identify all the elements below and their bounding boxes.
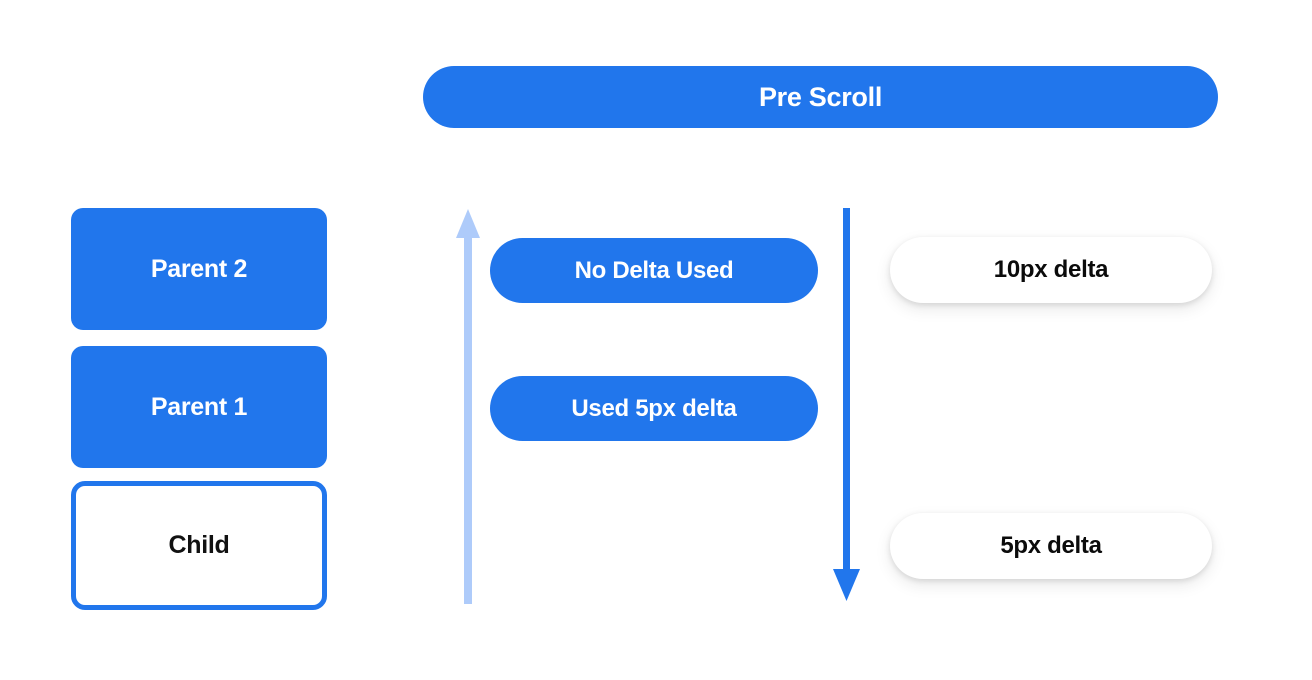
pill-5px-delta-label: 5px delta — [1000, 532, 1101, 560]
node-child: Child — [71, 481, 327, 610]
node-parent-1: Parent 1 — [71, 346, 327, 468]
node-child-label: Child — [169, 531, 230, 560]
pill-10px-delta-label: 10px delta — [994, 256, 1108, 284]
pill-no-delta-used-label: No Delta Used — [575, 257, 734, 285]
pre-scroll-header-label: Pre Scroll — [759, 82, 882, 113]
pill-used-5px-delta: Used 5px delta — [490, 376, 818, 441]
pre-scroll-header-pill: Pre Scroll — [423, 66, 1218, 128]
node-parent-2: Parent 2 — [71, 208, 327, 330]
diagram-canvas: Pre Scroll Parent 2 Parent 1 Child No De… — [0, 0, 1312, 680]
pill-no-delta-used: No Delta Used — [490, 238, 818, 303]
pill-used-5px-delta-label: Used 5px delta — [571, 395, 736, 423]
node-parent-1-label: Parent 1 — [151, 393, 247, 422]
pill-10px-delta: 10px delta — [890, 237, 1212, 303]
downward-arrow-icon — [832, 208, 862, 602]
node-parent-2-label: Parent 2 — [151, 255, 247, 284]
pill-5px-delta: 5px delta — [890, 513, 1212, 579]
upward-arrow-icon — [455, 208, 481, 604]
